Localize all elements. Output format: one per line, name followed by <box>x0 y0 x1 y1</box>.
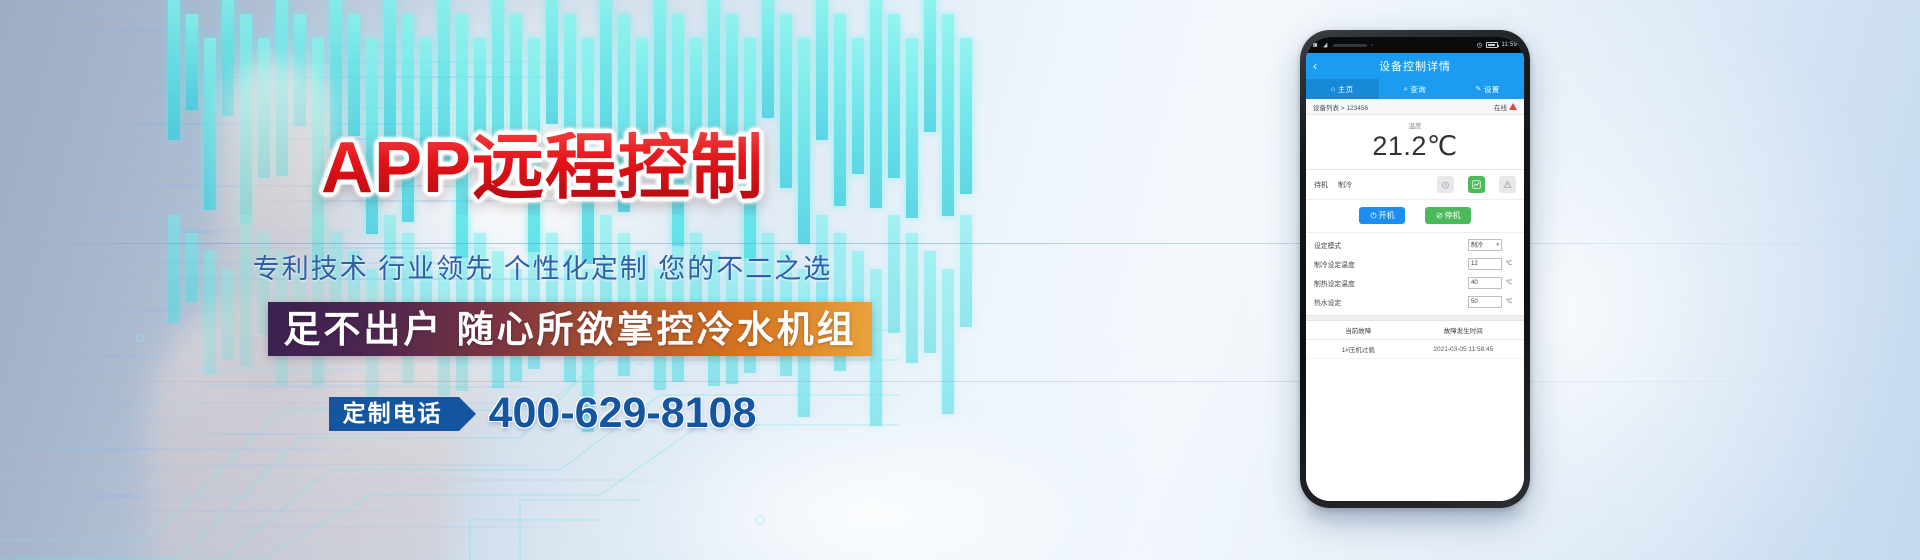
wrench-icon: ✎ <box>1475 86 1481 93</box>
mode-row: 待机 制冷 <box>1306 170 1524 200</box>
mode-select[interactable]: 制冷 ▾ <box>1468 239 1502 251</box>
status-badge: 在线 <box>1494 102 1517 112</box>
hot-water-input[interactable]: 50 <box>1468 296 1502 308</box>
temperature-panel: 温度 21.2℃ <box>1306 115 1524 170</box>
marketing-copy: APP远程控制 专利技术 行业领先 个性化定制 您的不二之选 足不出户 随心所欲… <box>0 0 1085 560</box>
tab-query[interactable]: ⌕ 查询 <box>1379 79 1452 99</box>
setting-label-mode: 设定模式 <box>1314 240 1468 250</box>
highlight-banner-text: 足不出户 随心所欲掌控冷水机组 <box>283 311 856 348</box>
status-badge-label: 在线 <box>1494 102 1507 112</box>
tab-settings-label: 设置 <box>1484 84 1500 95</box>
phone-number[interactable]: 400-629-8108 <box>489 392 757 435</box>
timer-icon <box>1441 180 1450 189</box>
fault-header-time: 故障发生时间 <box>1407 325 1520 335</box>
stop-icon <box>1436 212 1443 219</box>
hot-water-value: 50 <box>1471 299 1478 305</box>
start-button-label: 开机 <box>1379 210 1395 221</box>
app-title: 设备控制详情 <box>1306 58 1524 74</box>
phone-screen: 11:59 ‹ 设备控制详情 ⌂ 主页 ⌕ 查询 ✎ <box>1306 37 1524 501</box>
setting-label-cool-temp: 制冷设定温度 <box>1314 259 1468 269</box>
power-icon <box>1370 212 1377 219</box>
back-chevron-icon[interactable]: ‹ <box>1313 60 1317 72</box>
fault-table: 当前故障 故障发生时间 1#压机过载 2021-03-05 11:58:45 <box>1306 321 1524 501</box>
start-button[interactable]: 开机 <box>1359 207 1405 224</box>
setting-unit-cool-temp: ℃ <box>1502 260 1516 267</box>
camera-dot <box>1371 44 1373 46</box>
cool-temp-value: 12 <box>1471 261 1478 267</box>
home-icon: ⌂ <box>1331 86 1336 93</box>
power-button-row: 开机 停机 <box>1306 200 1524 233</box>
phone-tag-label: 定制电话 <box>329 397 459 431</box>
signal-icon <box>1322 42 1329 48</box>
tab-home[interactable]: ⌂ 主页 <box>1306 79 1379 99</box>
heat-temp-value: 40 <box>1471 280 1478 286</box>
alarm-icon <box>1503 180 1512 189</box>
fault-name: 1#压机过载 <box>1310 344 1407 354</box>
stop-button[interactable]: 停机 <box>1425 207 1471 224</box>
settings-list: 设定模式 制冷 ▾ 制冷设定温度 12 ℃ 制热设定温度 <box>1306 233 1524 315</box>
warning-triangle-icon <box>1509 103 1517 110</box>
setting-row-cool-temp: 制冷设定温度 12 ℃ <box>1306 254 1524 273</box>
timer-icon-button[interactable] <box>1437 176 1454 193</box>
temperature-value: 21.2℃ <box>1306 131 1524 162</box>
fault-header-current: 当前故障 <box>1310 325 1407 335</box>
chevron-down-icon: ▾ <box>1496 242 1499 248</box>
earpiece-notch <box>1333 44 1367 47</box>
phone-mockup: 11:59 ‹ 设备控制详情 ⌂ 主页 ⌕ 查询 ✎ <box>1300 30 1530 508</box>
table-row[interactable]: 1#压机过载 2021-03-05 11:58:45 <box>1306 340 1524 359</box>
highlight-banner: 足不出户 随心所欲掌控冷水机组 <box>268 302 872 356</box>
subheadline: 专利技术 行业领先 个性化定制 您的不二之选 <box>0 256 1085 283</box>
hero-banner: APP远程控制 专利技术 行业领先 个性化定制 您的不二之选 足不出户 随心所欲… <box>0 0 1920 560</box>
app-title-bar: ‹ 设备控制详情 <box>1306 53 1524 79</box>
search-icon: ⌕ <box>1404 86 1408 93</box>
phone-reflection <box>1306 509 1524 531</box>
contact-phone-line: 定制电话 400-629-8108 <box>0 392 1085 435</box>
setting-label-heat-temp: 制热设定温度 <box>1314 278 1468 288</box>
breadcrumb[interactable]: 设备列表 > 123456 在线 <box>1306 99 1524 115</box>
temperature-label: 温度 <box>1306 120 1524 130</box>
right-glow <box>1180 0 1920 560</box>
tab-query-label: 查询 <box>1410 84 1426 95</box>
alarm-clock-icon <box>1476 42 1483 48</box>
device-state-label: 待机 <box>1314 180 1328 190</box>
tab-bar: ⌂ 主页 ⌕ 查询 ✎ 设置 <box>1306 79 1524 99</box>
status-bar-time: 11:59 <box>1501 42 1517 48</box>
stop-button-label: 停机 <box>1445 210 1461 221</box>
chart-icon-button[interactable] <box>1468 176 1485 193</box>
breadcrumb-path: 设备列表 > 123456 <box>1313 102 1368 112</box>
fault-table-header: 当前故障 故障发生时间 <box>1306 321 1524 340</box>
alarm-icon-button[interactable] <box>1499 176 1516 193</box>
fault-time: 2021-03-05 11:58:45 <box>1407 346 1520 353</box>
heat-temp-input[interactable]: 40 <box>1468 277 1502 289</box>
sim-card-icon <box>1313 42 1320 48</box>
mode-select-value: 制冷 <box>1471 240 1483 249</box>
device-mode-label: 制冷 <box>1338 180 1352 190</box>
setting-row-mode: 设定模式 制冷 ▾ <box>1306 235 1524 254</box>
setting-row-hot-water: 热水设定 50 ℃ <box>1306 292 1524 311</box>
setting-label-hot-water: 热水设定 <box>1314 297 1468 307</box>
battery-icon <box>1486 42 1498 48</box>
cool-temp-input[interactable]: 12 <box>1468 258 1502 270</box>
tab-settings[interactable]: ✎ 设置 <box>1451 79 1524 99</box>
setting-row-heat-temp: 制热设定温度 40 ℃ <box>1306 273 1524 292</box>
status-bar: 11:59 <box>1306 37 1524 53</box>
tab-home-label: 主页 <box>1338 84 1354 95</box>
setting-unit-heat-temp: ℃ <box>1502 279 1516 286</box>
setting-unit-hot-water: ℃ <box>1502 298 1516 305</box>
page-title: APP远程控制 <box>0 132 1085 204</box>
chart-icon <box>1472 180 1481 189</box>
